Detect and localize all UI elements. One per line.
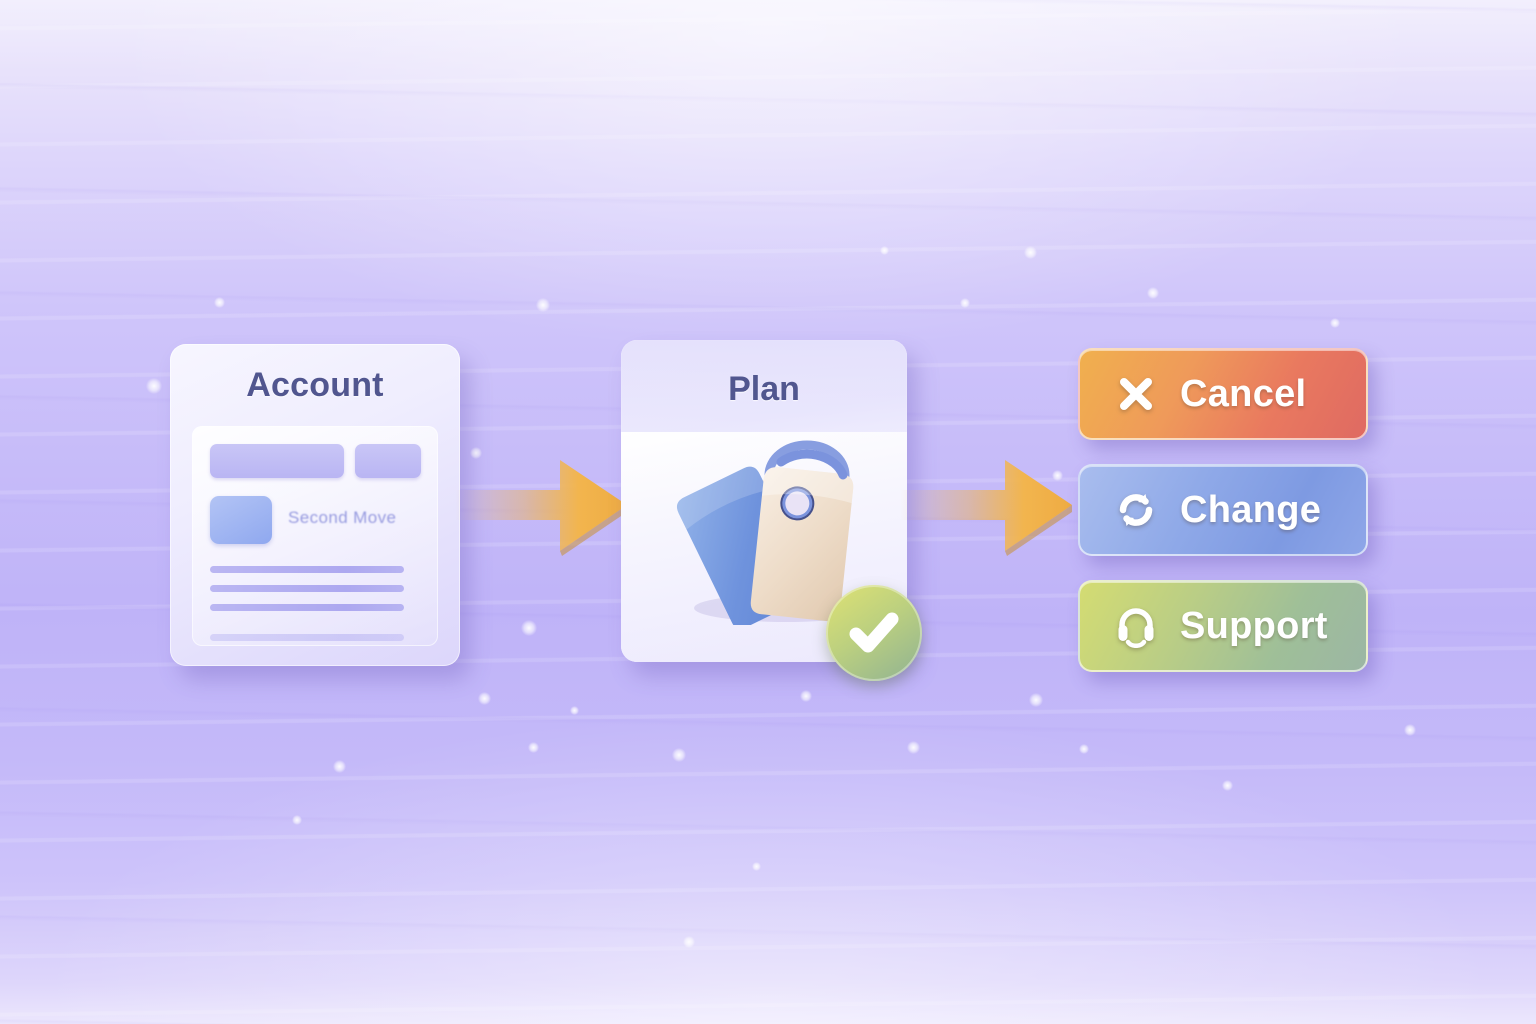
bokeh-dot [570, 706, 579, 715]
bokeh-dot [214, 297, 225, 308]
text-line [210, 604, 404, 611]
bokeh-dot [521, 620, 537, 636]
bokeh-dot [1052, 470, 1063, 481]
bokeh-dot [1404, 724, 1416, 736]
bokeh-dot [672, 748, 686, 762]
support-button-label: Support [1180, 605, 1328, 648]
bokeh-dot [1330, 318, 1340, 328]
account-document-body: Second Move [192, 426, 438, 646]
change-button-label: Change [1180, 489, 1321, 532]
refresh-sync-icon [1114, 488, 1158, 532]
bokeh-dot [683, 936, 695, 948]
cancel-button-label: Cancel [1180, 373, 1306, 416]
step-card-account[interactable]: Account Second Move [170, 344, 460, 666]
check-icon [845, 604, 903, 662]
bokeh-dot [528, 742, 539, 753]
bokeh-dot [536, 298, 550, 312]
cancel-button[interactable]: Cancel [1078, 348, 1368, 440]
bokeh-dot [907, 741, 920, 754]
bokeh-dot [960, 298, 970, 308]
background-glow-bottom [0, 684, 1536, 1024]
check-badge[interactable] [826, 585, 922, 681]
bokeh-dot [146, 378, 162, 394]
bokeh-dot [1147, 287, 1159, 299]
bokeh-dot [800, 690, 812, 702]
change-button[interactable]: Change [1078, 464, 1368, 556]
row-label: Second Move [288, 508, 396, 528]
bokeh-dot [292, 815, 302, 825]
text-line [210, 566, 404, 573]
arrow-account-to-plan [455, 452, 630, 558]
close-x-icon [1114, 372, 1158, 416]
text-line [210, 634, 404, 641]
arrow-plan-to-actions [900, 452, 1075, 558]
field-primary[interactable] [210, 444, 344, 478]
bokeh-dot [752, 862, 761, 871]
page-title-account: Account [170, 366, 460, 405]
bokeh-dot [333, 760, 346, 773]
bokeh-dot [1222, 780, 1233, 791]
page-title-plan: Plan [621, 370, 907, 409]
avatar[interactable] [210, 496, 272, 544]
bokeh-dot [1024, 246, 1037, 259]
scene-canvas: Account Second Move [0, 0, 1536, 1024]
bokeh-dot [1029, 693, 1043, 707]
field-secondary[interactable] [355, 444, 421, 478]
bokeh-dot [880, 246, 889, 255]
bokeh-dot [470, 447, 482, 459]
bokeh-dot [478, 692, 491, 705]
bokeh-dot [1079, 744, 1089, 754]
support-button[interactable]: Support [1078, 580, 1368, 672]
text-line [210, 585, 404, 592]
headset-icon [1114, 604, 1158, 648]
